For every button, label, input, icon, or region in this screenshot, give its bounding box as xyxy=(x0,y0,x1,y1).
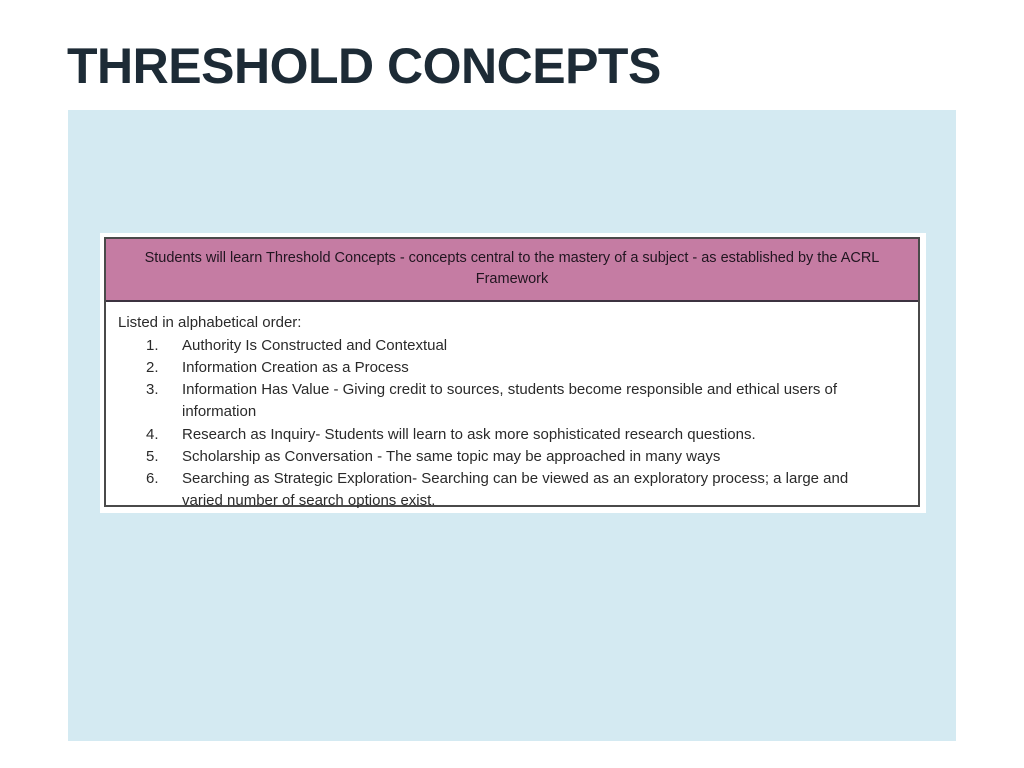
list-item: 2. Information Creation as a Process xyxy=(146,357,906,379)
concepts-list: 1. Authority Is Constructed and Contextu… xyxy=(118,335,906,513)
list-item: 4. Research as Inquiry- Students will le… xyxy=(146,424,906,446)
list-item-label: Information Has Value - Giving credit to… xyxy=(182,379,906,423)
concepts-box-container: Students will learn Threshold Concepts -… xyxy=(100,233,926,513)
list-item-number: 3. xyxy=(146,379,182,401)
list-intro-text: Listed in alphabetical order: xyxy=(118,312,906,334)
list-item-label: Authority Is Constructed and Contextual xyxy=(182,335,906,357)
concepts-box-body: Listed in alphabetical order: 1. Authori… xyxy=(106,302,918,520)
list-item-label: Searching as Strategic Exploration- Sear… xyxy=(182,468,906,512)
concepts-box: Students will learn Threshold Concepts -… xyxy=(104,237,920,507)
list-item-number: 2. xyxy=(146,357,182,379)
list-item-label: Research as Inquiry- Students will learn… xyxy=(182,424,906,446)
concepts-box-header: Students will learn Threshold Concepts -… xyxy=(106,239,918,302)
header-line-1: Students will learn Threshold Concepts -… xyxy=(145,250,794,266)
list-item-number: 5. xyxy=(146,446,182,468)
list-item: 3. Information Has Value - Giving credit… xyxy=(146,379,906,423)
list-item-number: 6. xyxy=(146,468,182,490)
list-item: 6. Searching as Strategic Exploration- S… xyxy=(146,468,906,512)
list-item-label: Information Creation as a Process xyxy=(182,357,906,379)
list-item-label: Scholarship as Conversation - The same t… xyxy=(182,446,906,468)
list-item: 1. Authority Is Constructed and Contextu… xyxy=(146,335,906,357)
list-item: 5. Scholarship as Conversation - The sam… xyxy=(146,446,906,468)
list-item-number: 1. xyxy=(146,335,182,357)
list-item-number: 4. xyxy=(146,424,182,446)
page-title: THRESHOLD CONCEPTS xyxy=(67,41,661,91)
